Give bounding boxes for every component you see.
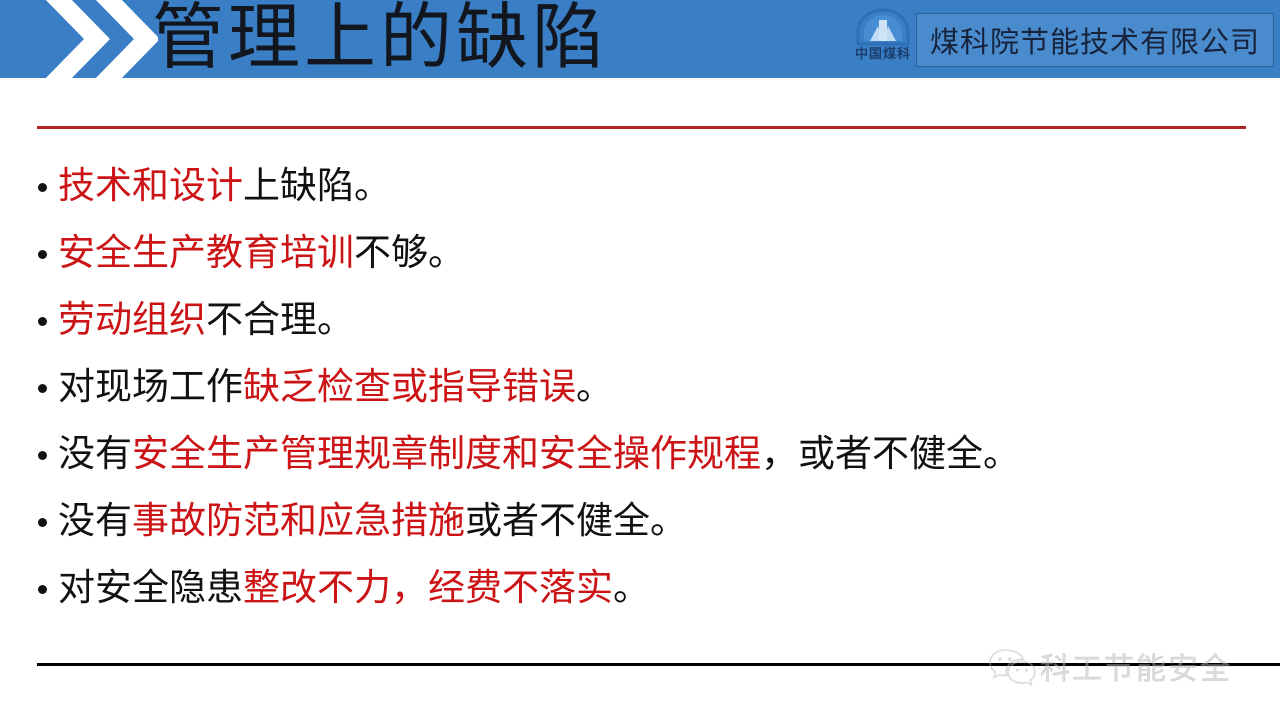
- list-item-text: 没有事故防范和应急措施或者不健全。: [58, 500, 687, 542]
- text-segment: 没有: [58, 433, 132, 474]
- text-segment: 不够。: [354, 232, 465, 273]
- list-item: 劳动组织不合理。: [38, 286, 1258, 353]
- bullet-dot-icon: [38, 451, 47, 460]
- list-item: 安全生产教育培训不够。: [38, 219, 1258, 286]
- bullet-dot-icon: [38, 250, 47, 259]
- list-item-text: 劳动组织不合理。: [58, 299, 354, 341]
- text-segment: ，或者不健全。: [761, 433, 1020, 474]
- list-item: 没有安全生产管理规章制度和安全操作规程，或者不健全。: [38, 420, 1258, 487]
- text-segment: 。: [576, 366, 613, 407]
- text-segment: 不合理。: [206, 299, 354, 340]
- bullet-list: 技术和设计上缺陷。安全生产教育培训不够。劳动组织不合理。对现场工作缺乏检查或指导…: [38, 152, 1258, 621]
- list-item: 没有事故防范和应急措施或者不健全。: [38, 487, 1258, 554]
- text-segment: 整改不力，经费不落实: [243, 567, 613, 608]
- company-name-box: 煤科院节能技术有限公司: [916, 13, 1274, 67]
- text-segment: 安全生产教育培训: [58, 232, 354, 273]
- footer-watermark: 科工节能安全: [988, 640, 1278, 692]
- header-band: 管理上的缺陷 中国煤科 煤科院节能技术有限公司: [0, 0, 1280, 78]
- text-segment: 劳动组织: [58, 299, 206, 340]
- text-segment: 上缺陷。: [243, 165, 391, 206]
- bullet-dot-icon: [38, 585, 47, 594]
- list-item: 对安全隐患整改不力，经费不落实。: [38, 554, 1258, 621]
- bullet-dot-icon: [38, 317, 47, 326]
- list-item-text: 安全生产教育培训不够。: [58, 232, 465, 274]
- text-segment: 对安全隐患: [58, 567, 243, 608]
- logo-caption: 中国煤科: [846, 46, 920, 61]
- company-name-label: 煤科院节能技术有限公司: [930, 19, 1260, 61]
- text-segment: 或者不健全。: [465, 500, 687, 541]
- double-chevron-right-icon: [38, 0, 158, 78]
- text-segment: 缺乏检查或指导错误: [243, 366, 576, 407]
- list-item: 技术和设计上缺陷。: [38, 152, 1258, 219]
- wechat-icon: [988, 646, 1036, 686]
- text-segment: 没有: [58, 500, 132, 541]
- text-segment: 安全生产管理规章制度和安全操作规程: [132, 433, 761, 474]
- list-item-text: 对现场工作缺乏检查或指导错误。: [58, 366, 613, 408]
- watermark-label: 科工节能安全: [1040, 644, 1232, 688]
- company-logo: 中国煤科: [846, 8, 920, 68]
- bullet-dot-icon: [38, 518, 47, 527]
- list-item-text: 技术和设计上缺陷。: [58, 165, 391, 207]
- bullet-dot-icon: [38, 183, 47, 192]
- bullet-dot-icon: [38, 384, 47, 393]
- top-red-divider: [37, 126, 1246, 129]
- page-title: 管理上的缺陷: [152, 0, 608, 78]
- slide-canvas: 管理上的缺陷 中国煤科 煤科院节能技术有限公司 技术和设计上缺陷。安全生产教育培…: [0, 0, 1280, 720]
- china-coal-emblem-icon: [852, 8, 914, 48]
- text-segment: 。: [613, 567, 650, 608]
- list-item: 对现场工作缺乏检查或指导错误。: [38, 353, 1258, 420]
- text-segment: 技术和设计: [58, 165, 243, 206]
- text-segment: 对现场工作: [58, 366, 243, 407]
- list-item-text: 没有安全生产管理规章制度和安全操作规程，或者不健全。: [58, 433, 1020, 475]
- text-segment: 事故防范和应急措施: [132, 500, 465, 541]
- list-item-text: 对安全隐患整改不力，经费不落实。: [58, 567, 650, 609]
